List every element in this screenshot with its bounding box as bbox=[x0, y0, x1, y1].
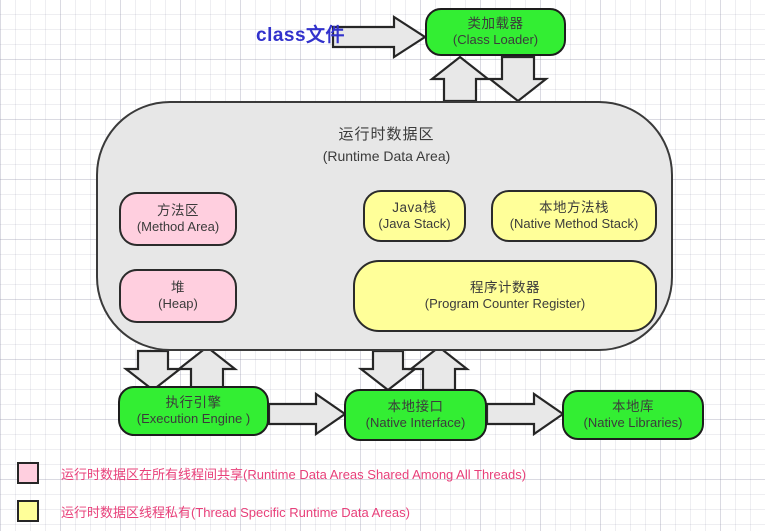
legend-row-thread-specific: 运行时数据区线程私有(Thread Specific Runtime Data … bbox=[17, 500, 410, 522]
node-execution-engine[interactable]: 执行引擎 (Execution Engine ) bbox=[118, 386, 269, 436]
runtime-data-area-title-cn: 运行时数据区 bbox=[98, 123, 675, 144]
arrow-engine-to-runtime-up bbox=[179, 347, 235, 390]
node-native-libraries-en: (Native Libraries) bbox=[584, 415, 683, 430]
node-program-counter-register[interactable]: 程序计数器 (Program Counter Register) bbox=[353, 260, 657, 332]
class-file-label: class文件 bbox=[256, 20, 345, 47]
node-program-counter-register-en: (Program Counter Register) bbox=[425, 296, 585, 311]
node-native-method-stack[interactable]: 本地方法栈 (Native Method Stack) bbox=[491, 190, 657, 242]
node-execution-engine-cn: 执行引擎 bbox=[166, 395, 222, 411]
node-native-libraries-cn: 本地库 bbox=[612, 399, 654, 415]
node-native-interface-en: (Native Interface) bbox=[366, 415, 466, 430]
node-heap-en: (Heap) bbox=[158, 296, 198, 311]
node-native-method-stack-en: (Native Method Stack) bbox=[510, 216, 639, 231]
arrow-classfile-to-classloader bbox=[333, 17, 425, 57]
diagram-canvas: class文件 类加载器 (Class Loader) 运行时数据区 (Runt… bbox=[0, 0, 765, 531]
arrow-native-interface-to-libraries bbox=[487, 394, 563, 434]
arrow-native-to-runtime-up bbox=[411, 347, 467, 390]
legend-swatch-thread-specific bbox=[17, 500, 39, 522]
node-native-interface[interactable]: 本地接口 (Native Interface) bbox=[344, 389, 487, 441]
node-class-loader-cn: 类加载器 bbox=[468, 16, 524, 32]
node-execution-engine-en: (Execution Engine ) bbox=[137, 411, 250, 426]
arrow-engine-to-native-interface bbox=[269, 394, 345, 434]
node-native-method-stack-cn: 本地方法栈 bbox=[539, 200, 609, 216]
legend-label-shared: 运行时数据区在所有线程间共享(Runtime Data Areas Shared… bbox=[61, 464, 526, 483]
node-java-stack-en: (Java Stack) bbox=[378, 216, 450, 231]
node-native-libraries[interactable]: 本地库 (Native Libraries) bbox=[562, 390, 704, 440]
runtime-data-area-title-en: (Runtime Data Area) bbox=[98, 148, 675, 164]
node-heap-cn: 堆 bbox=[171, 280, 185, 296]
node-program-counter-register-cn: 程序计数器 bbox=[470, 280, 540, 296]
node-java-stack-cn: Java栈 bbox=[392, 200, 437, 216]
node-method-area[interactable]: 方法区 (Method Area) bbox=[119, 192, 237, 246]
arrow-runtime-to-native-down bbox=[361, 351, 415, 390]
legend-row-shared: 运行时数据区在所有线程间共享(Runtime Data Areas Shared… bbox=[17, 462, 526, 484]
node-heap[interactable]: 堆 (Heap) bbox=[119, 269, 237, 323]
runtime-data-area-title: 运行时数据区 (Runtime Data Area) bbox=[98, 123, 675, 164]
arrow-classloader-to-runtime-down bbox=[490, 57, 546, 101]
legend-swatch-shared bbox=[17, 462, 39, 484]
node-java-stack[interactable]: Java栈 (Java Stack) bbox=[363, 190, 466, 242]
node-class-loader[interactable]: 类加载器 (Class Loader) bbox=[425, 8, 566, 56]
legend-label-thread-specific: 运行时数据区线程私有(Thread Specific Runtime Data … bbox=[61, 502, 410, 521]
node-method-area-cn: 方法区 bbox=[157, 203, 199, 219]
node-native-interface-cn: 本地接口 bbox=[388, 399, 444, 415]
arrow-runtime-to-engine-down bbox=[126, 351, 180, 390]
node-class-loader-en: (Class Loader) bbox=[453, 32, 538, 47]
arrow-runtime-to-classloader-up bbox=[432, 57, 488, 101]
node-method-area-en: (Method Area) bbox=[137, 219, 219, 234]
